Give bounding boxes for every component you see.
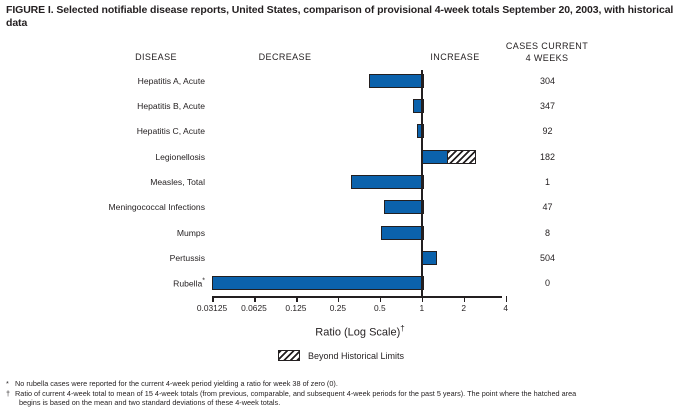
footnote-dagger-text: Ratio of current 4-week total to mean of…: [15, 389, 684, 398]
hatched-swatch-icon: [278, 350, 300, 361]
x-axis-title-text: Ratio (Log Scale): [315, 327, 400, 339]
footnote-asterisk-mark: *: [6, 379, 9, 388]
disease-label: Legionellosis: [20, 152, 205, 162]
disease-label: Hepatitis C, Acute: [20, 126, 205, 136]
cases-current-4-weeks-value: 1: [500, 177, 595, 187]
cases-current-4-weeks-value: 182: [500, 152, 595, 162]
cases-current-4-weeks-value: 347: [500, 101, 595, 111]
x-axis-tick: [338, 296, 340, 302]
column-header-disease: DISEASE: [116, 52, 196, 62]
cases-current-4-weeks-value: 8: [500, 228, 595, 238]
column-header-increase: INCREASE: [420, 52, 490, 62]
chart-row: Legionellosis182: [0, 144, 688, 169]
x-axis-tick: [506, 296, 508, 302]
chart-plot-area: Hepatitis A, Acute304Hepatitis B, Acute3…: [0, 68, 688, 296]
x-axis-title-footnote-mark: †: [400, 324, 404, 333]
disease-label: Rubella*: [20, 278, 205, 289]
chart-row: Rubella*0: [0, 271, 688, 296]
bar-meningococcal-infections: [384, 200, 423, 214]
footnote-dagger: † Ratio of current 4-week total to mean …: [6, 389, 684, 408]
chart-row: Mumps8: [0, 220, 688, 245]
footnote-asterisk-text: No rubella cases were reported for the c…: [15, 379, 684, 388]
chart-row: Hepatitis C, Acute92: [0, 119, 688, 144]
disease-label: Measles, Total: [20, 177, 205, 187]
footnotes: * No rubella cases were reported for the…: [6, 379, 684, 408]
column-header-decrease: DECREASE: [240, 52, 330, 62]
footnote-dagger-text-continued: begins is based on the mean and two stan…: [15, 398, 684, 407]
x-axis-tick: [212, 296, 214, 302]
bar-rubella: [212, 276, 424, 290]
cases-current-4-weeks-value: 504: [500, 253, 595, 263]
cases-current-4-weeks-value: 304: [500, 76, 595, 86]
x-axis-tick: [254, 296, 256, 302]
legend-label-beyond-historical-limits: Beyond Historical Limits: [308, 351, 404, 361]
column-header-cases-line1: CASES CURRENT: [506, 41, 588, 51]
footnote-asterisk: * No rubella cases were reported for the…: [6, 379, 684, 388]
column-header-cases-line2: 4 WEEKS: [526, 53, 569, 63]
chart-row: Meningococcal Infections47: [0, 195, 688, 220]
chart-row: Hepatitis B, Acute347: [0, 93, 688, 118]
bar-pertussis: [422, 251, 437, 265]
disease-label-footnote-mark: *: [202, 278, 205, 285]
column-header-cases: CASES CURRENT 4 WEEKS: [492, 41, 602, 64]
cases-current-4-weeks-value: 47: [500, 202, 595, 212]
reference-line-ratio-1: [421, 70, 423, 297]
bar-mumps: [381, 226, 424, 240]
disease-label: Hepatitis A, Acute: [20, 76, 205, 86]
disease-label: Pertussis: [20, 253, 205, 263]
x-axis-tick: [464, 296, 466, 302]
hatched-segment-beyond-historical-limits: [447, 150, 476, 164]
chart-legend: Beyond Historical Limits: [278, 350, 404, 361]
disease-label: Hepatitis B, Acute: [20, 101, 205, 111]
cases-current-4-weeks-value: 92: [500, 126, 595, 136]
bar-hepatitis-a-acute: [369, 74, 423, 88]
x-axis-tick: [422, 296, 424, 302]
cases-current-4-weeks-value: 0: [500, 278, 595, 288]
bar-measles-total: [351, 175, 424, 189]
disease-label: Meningococcal Infections: [20, 202, 205, 212]
bar-legionellosis: [422, 150, 449, 164]
chart-row: Measles, Total1: [0, 169, 688, 194]
chart-row: Hepatitis A, Acute304: [0, 68, 688, 93]
x-axis-title: Ratio (Log Scale)†: [230, 324, 490, 339]
figure-title: FIGURE I. Selected notifiable disease re…: [6, 4, 682, 30]
x-axis-tick: [380, 296, 382, 302]
x-axis-tick: [296, 296, 298, 302]
x-axis-tick-label: 4: [476, 303, 536, 313]
footnote-dagger-mark: †: [6, 389, 10, 398]
disease-label: Mumps: [20, 228, 205, 238]
chart-row: Pertussis504: [0, 245, 688, 270]
